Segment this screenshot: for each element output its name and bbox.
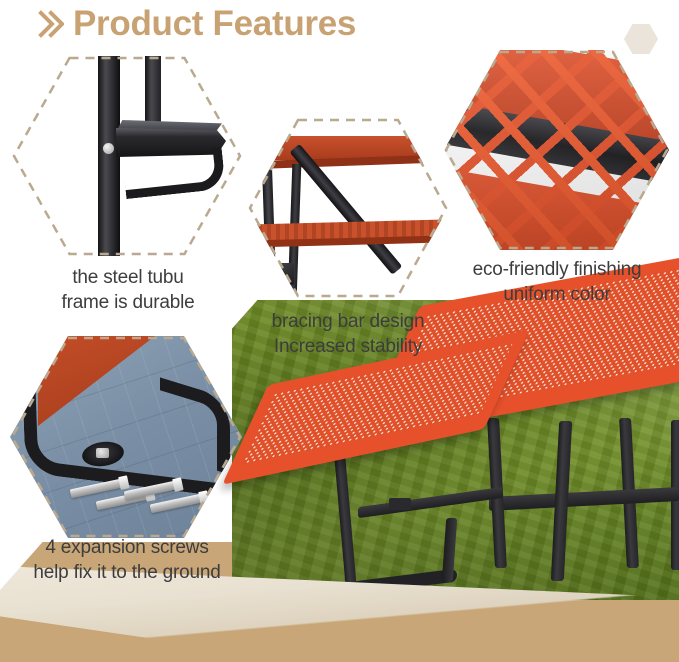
feature-callout-steel-frame: the steel tubu frame is durable: [12, 56, 242, 256]
caption-line-1: 4 expansion screws: [4, 535, 250, 560]
anchor-bolt-icon: [96, 448, 109, 458]
bracing-bracket: [272, 263, 294, 285]
page-title: Product Features: [38, 2, 356, 46]
feature-callout-eco-finish: eco-friendly finishing uniform color: [444, 50, 669, 250]
feature-image-bracing-bar: [248, 118, 448, 298]
caption-line-2: help fix it to the ground: [4, 560, 250, 585]
page-title-text: Product Features: [73, 2, 356, 46]
caption-line-2: Increased stability: [232, 334, 464, 359]
caption-line-2: uniform color: [436, 282, 678, 307]
feature-caption-expansion-screws: 4 expansion screws help fix it to the gr…: [4, 535, 250, 585]
bench-bracket: [389, 498, 411, 510]
caption-line-1: the steel tubu: [6, 265, 250, 290]
product-features-infographic: Product Features the steel tubu frame is…: [0, 0, 679, 662]
caption-line-1: bracing bar design: [232, 309, 464, 334]
steel-curved-tube: [122, 147, 226, 199]
feature-caption-bracing-bar: bracing bar design Increased stability: [232, 309, 464, 359]
feature-image-steel-frame: [12, 56, 242, 256]
feature-callout-bracing-bar: bracing bar design Increased stability: [248, 118, 448, 298]
steel-post-secondary: [145, 56, 161, 132]
feature-callout-expansion-screws: 4 expansion screws help fix it to the gr…: [10, 336, 242, 538]
feature-caption-steel-frame: the steel tubu frame is durable: [6, 265, 250, 315]
caption-line-1: eco-friendly finishing: [436, 257, 678, 282]
mesh-shading: [444, 50, 669, 250]
double-chevron-right-icon: [38, 9, 64, 39]
feature-image-expansion-screws: [10, 336, 242, 538]
bolt-icon: [103, 143, 114, 154]
feature-image-eco-finish: [444, 50, 669, 250]
feature-caption-eco-finish: eco-friendly finishing uniform color: [436, 257, 678, 307]
caption-line-2: frame is durable: [6, 290, 250, 315]
